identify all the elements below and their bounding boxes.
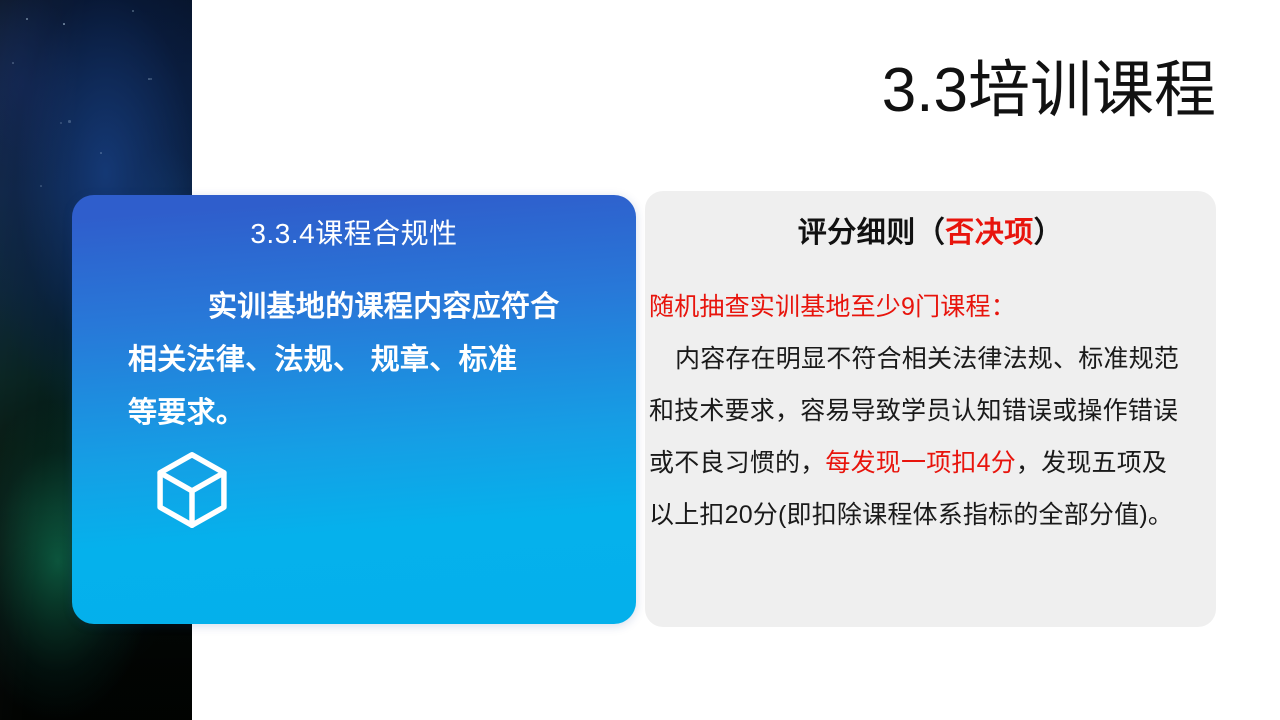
- star-speck: [68, 120, 71, 123]
- scoring-rules-panel: 评分细则（否决项） 随机抽查实训基地至少9门课程： 内容存在明显不符合相关法律法…: [645, 191, 1216, 627]
- criterion-heading: 3.3.4课程合规性: [72, 212, 636, 252]
- star-speck: [26, 18, 28, 20]
- star-speck: [12, 62, 14, 64]
- criterion-body-line-2: 相关法律、法规、 规章、标准: [112, 334, 604, 387]
- scoring-rules-line-2: 内容存在明显不符合相关法律法规、标准规范: [649, 333, 1210, 385]
- deduction-highlight: 每发现一项扣4分: [825, 449, 1016, 477]
- scoring-rules-line-3: 和技术要求，容易导致学员认知错误或操作错误: [649, 385, 1210, 437]
- scoring-rules-line-4: 或不良习惯的，每发现一项扣4分，发现五项及: [649, 437, 1210, 489]
- star-speck: [63, 23, 65, 25]
- star-speck: [100, 152, 102, 154]
- scoring-rules-body: 随机抽查实训基地至少9门课程： 内容存在明显不符合相关法律法规、标准规范 和技术…: [649, 281, 1210, 541]
- criterion-body-line-3: 等要求。: [112, 387, 604, 440]
- scoring-rules-line-5: 以上扣20分(即扣除课程体系指标的全部分值)。: [649, 489, 1210, 541]
- star-speck: [132, 10, 134, 12]
- star-speck: [60, 122, 62, 124]
- scoring-rules-line-4-part-a: 或不良习惯的，: [649, 449, 825, 477]
- scoring-rules-line-4-part-b: ，发现五项及: [1016, 449, 1167, 477]
- cube-icon: [150, 448, 234, 532]
- star-speck: [40, 185, 42, 187]
- criterion-body: 实训基地的课程内容应符合 相关法律、法规、 规章、标准 等要求。: [112, 281, 604, 440]
- criterion-body-line-1: 实训基地的课程内容应符合: [112, 281, 604, 334]
- criterion-card: 3.3.4课程合规性 实训基地的课程内容应符合 相关法律、法规、 规章、标准 等…: [72, 195, 636, 624]
- star-speck: [150, 78, 152, 80]
- veto-badge: 否决项: [945, 217, 1034, 249]
- scoring-rules-line-1: 随机抽查实训基地至少9门课程：: [649, 281, 1210, 333]
- scoring-rules-heading-suffix: ）: [1034, 217, 1064, 249]
- scoring-rules-heading: 评分细则（否决项）: [645, 209, 1216, 251]
- scoring-rules-heading-prefix: 评分细则（: [798, 217, 946, 249]
- page-title: 3.3培训课程: [882, 58, 1216, 125]
- slide-canvas: 3.3培训课程 3.3.4课程合规性 实训基地的课程内容应符合 相关法律、法规、…: [0, 0, 1280, 720]
